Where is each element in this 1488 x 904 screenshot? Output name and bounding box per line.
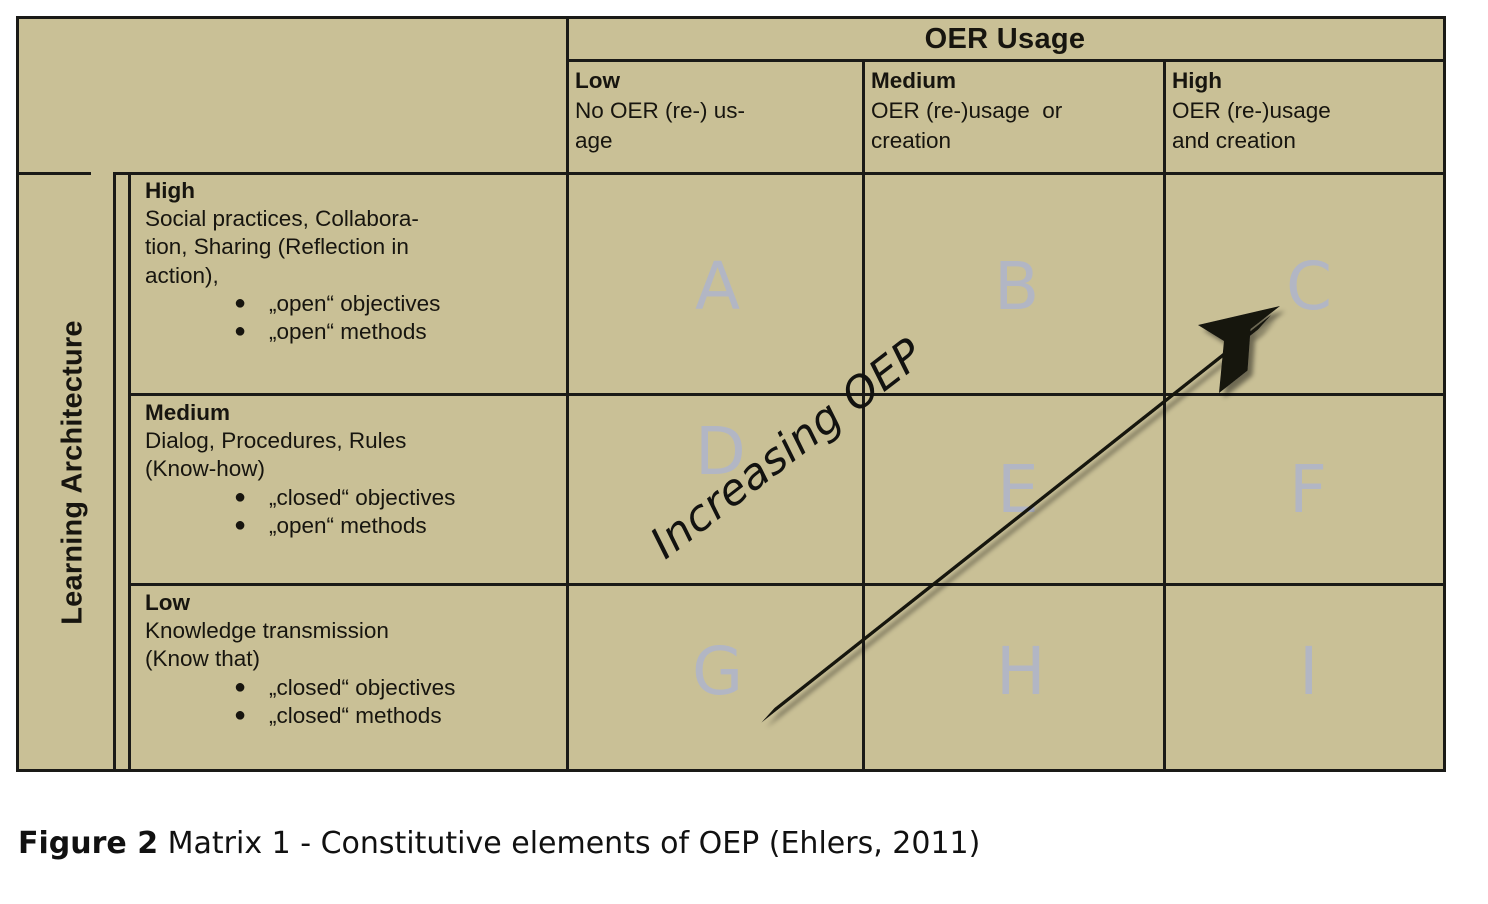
bullet-text: „closed“ methods xyxy=(269,703,442,728)
row-label-medium-bullets: ●„closed“ objectives ●„open“ methods xyxy=(145,484,566,540)
row-label-high-bullets: ●„open“ objectives ●„open“ methods xyxy=(145,290,566,346)
row-label-high-desc: Social practices, Collabora-tion, Sharin… xyxy=(145,205,566,290)
column-header-low: Low No OER (re-) us-age xyxy=(566,62,862,167)
cell-letter-e: E xyxy=(997,457,1039,523)
bullet-text: „closed“ objectives xyxy=(269,675,455,700)
column-header-medium-desc: OER (re-)usage orcreation xyxy=(871,96,1163,156)
row-label-low-desc: Knowledge transmission(Know that) xyxy=(145,617,566,673)
increasing-oep-label: Increasing OEP xyxy=(641,329,933,569)
row-label-low: Low Knowledge transmission(Know that) ●„… xyxy=(131,586,566,772)
row-label-medium: Medium Dialog, Procedures, Rules(Know-ho… xyxy=(131,396,566,583)
list-item: ●„open“ methods xyxy=(145,512,566,540)
cell-letter-g: G xyxy=(692,639,743,705)
figure-caption: Figure 2 Matrix 1 - Constitutive element… xyxy=(18,826,980,861)
bullet-icon: ● xyxy=(234,674,246,702)
figure-caption-text: Matrix 1 - Constitutive elements of OEP … xyxy=(158,826,980,861)
column-axis-title: OER Usage xyxy=(566,19,1444,59)
row-axis-title-text: Learning Architecture xyxy=(57,320,90,624)
column-header-medium-level: Medium xyxy=(871,66,1163,96)
cell-letter-i: I xyxy=(1299,639,1318,705)
row-axis-title: Learning Architecture xyxy=(19,172,128,772)
column-header-high-level: High xyxy=(1172,66,1444,96)
bullet-icon: ● xyxy=(234,318,246,346)
list-item: ●„open“ methods xyxy=(145,318,566,346)
bullet-icon: ● xyxy=(234,512,246,540)
list-item: ●„open“ objectives xyxy=(145,290,566,318)
figure-caption-number: Figure 2 xyxy=(18,826,158,861)
column-header-medium: Medium OER (re-)usage orcreation xyxy=(862,62,1163,167)
bullet-text: „open“ methods xyxy=(269,513,427,538)
cell-letter-b: B xyxy=(994,254,1039,320)
cell-letter-a: A xyxy=(695,254,740,320)
row-label-medium-level: Medium xyxy=(145,399,566,427)
column-header-low-desc: No OER (re-) us-age xyxy=(575,96,862,156)
bullet-text: „open“ methods xyxy=(269,319,427,344)
row-label-low-level: Low xyxy=(145,589,566,617)
row-label-high: High Social practices, Collabora-tion, S… xyxy=(131,174,566,393)
cell-letter-c: C xyxy=(1286,254,1332,320)
oep-matrix-table: OER Usage Low No OER (re-) us-age Medium… xyxy=(16,16,1446,772)
bullet-icon: ● xyxy=(234,702,246,730)
list-item: ●„closed“ objectives xyxy=(145,484,566,512)
bullet-text: „open“ objectives xyxy=(269,291,440,316)
row-label-low-bullets: ●„closed“ objectives ●„closed“ methods xyxy=(145,674,566,730)
cell-letter-f: F xyxy=(1289,457,1327,523)
figure-container: OER Usage Low No OER (re-) us-age Medium… xyxy=(0,0,1488,904)
cell-letter-h: H xyxy=(996,639,1046,705)
list-item: ●„closed“ objectives xyxy=(145,674,566,702)
column-header-high-desc: OER (re-)usageand creation xyxy=(1172,96,1444,156)
column-header-low-level: Low xyxy=(575,66,862,96)
bullet-text: „closed“ objectives xyxy=(269,485,455,510)
column-header-high: High OER (re-)usageand creation xyxy=(1163,62,1444,167)
bullet-icon: ● xyxy=(234,484,246,512)
list-item: ●„closed“ methods xyxy=(145,702,566,730)
row-label-medium-desc: Dialog, Procedures, Rules(Know-how) xyxy=(145,427,566,483)
bullet-icon: ● xyxy=(234,290,246,318)
row-label-high-level: High xyxy=(145,177,566,205)
